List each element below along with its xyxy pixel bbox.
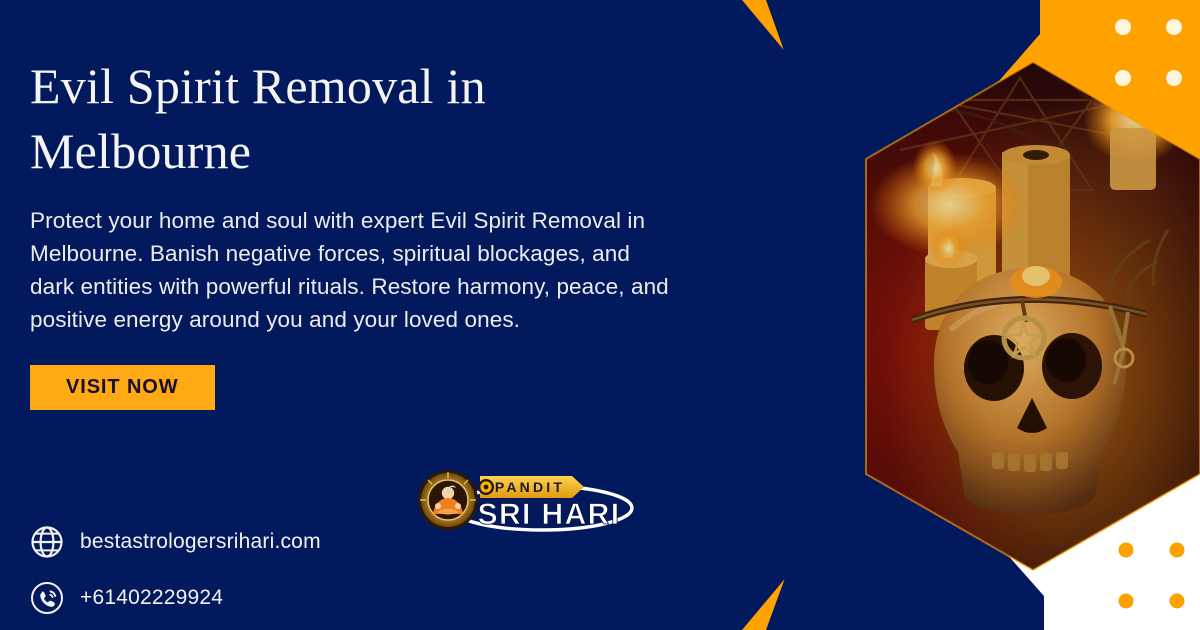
contact-block: bestastrologersrihari.com +61402229924	[30, 518, 321, 622]
website-row[interactable]: bestastrologersrihari.com	[30, 518, 321, 566]
phone-text: +61402229924	[80, 586, 223, 610]
globe-icon	[30, 525, 64, 559]
cta-container: VISIT NOW	[30, 365, 690, 410]
logo-brand-text: SRI HARI	[478, 498, 621, 531]
phone-row[interactable]: +61402229924	[30, 574, 321, 622]
page-title: Evil Spirit Removal in Melbourne	[30, 54, 590, 184]
website-text: bestastrologersrihari.com	[80, 530, 321, 554]
logo-badge-text: PANDIT	[495, 479, 565, 495]
brand-logo[interactable]: PANDIT	[416, 462, 638, 534]
banner-content: Evil Spirit Removal in Melbourne Protect…	[30, 54, 690, 410]
visit-now-button[interactable]: VISIT NOW	[30, 365, 215, 410]
promo-banner: Evil Spirit Removal in Melbourne Protect…	[0, 0, 1200, 630]
phone-call-icon	[30, 581, 64, 615]
guru-medallion-icon	[418, 470, 478, 530]
pandit-badge: PANDIT	[478, 476, 584, 498]
banner-description: Protect your home and soul with expert E…	[30, 204, 670, 336]
